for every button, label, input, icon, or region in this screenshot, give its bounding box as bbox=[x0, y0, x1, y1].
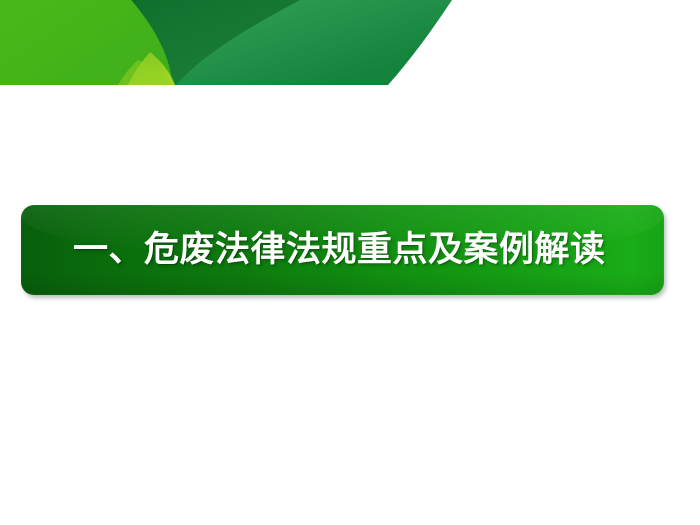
section-title-banner: 一、危废法律法规重点及案例解读 bbox=[21, 205, 664, 295]
swoosh-medium-shape bbox=[0, 0, 452, 85]
section-title-text: 一、危废法律法规重点及案例解读 bbox=[73, 233, 606, 268]
swoosh-lime-wedge bbox=[128, 52, 175, 85]
swoosh-dark-wedge bbox=[96, 0, 300, 85]
green-swoosh-banner bbox=[0, 0, 700, 90]
swoosh-bright-circle bbox=[0, 0, 172, 85]
header-decoration bbox=[0, 0, 700, 90]
swoosh-lime-glow bbox=[118, 60, 172, 85]
slide-body-area bbox=[0, 90, 700, 525]
slide-canvas: 一、危废法律法规重点及案例解读 bbox=[0, 0, 700, 525]
